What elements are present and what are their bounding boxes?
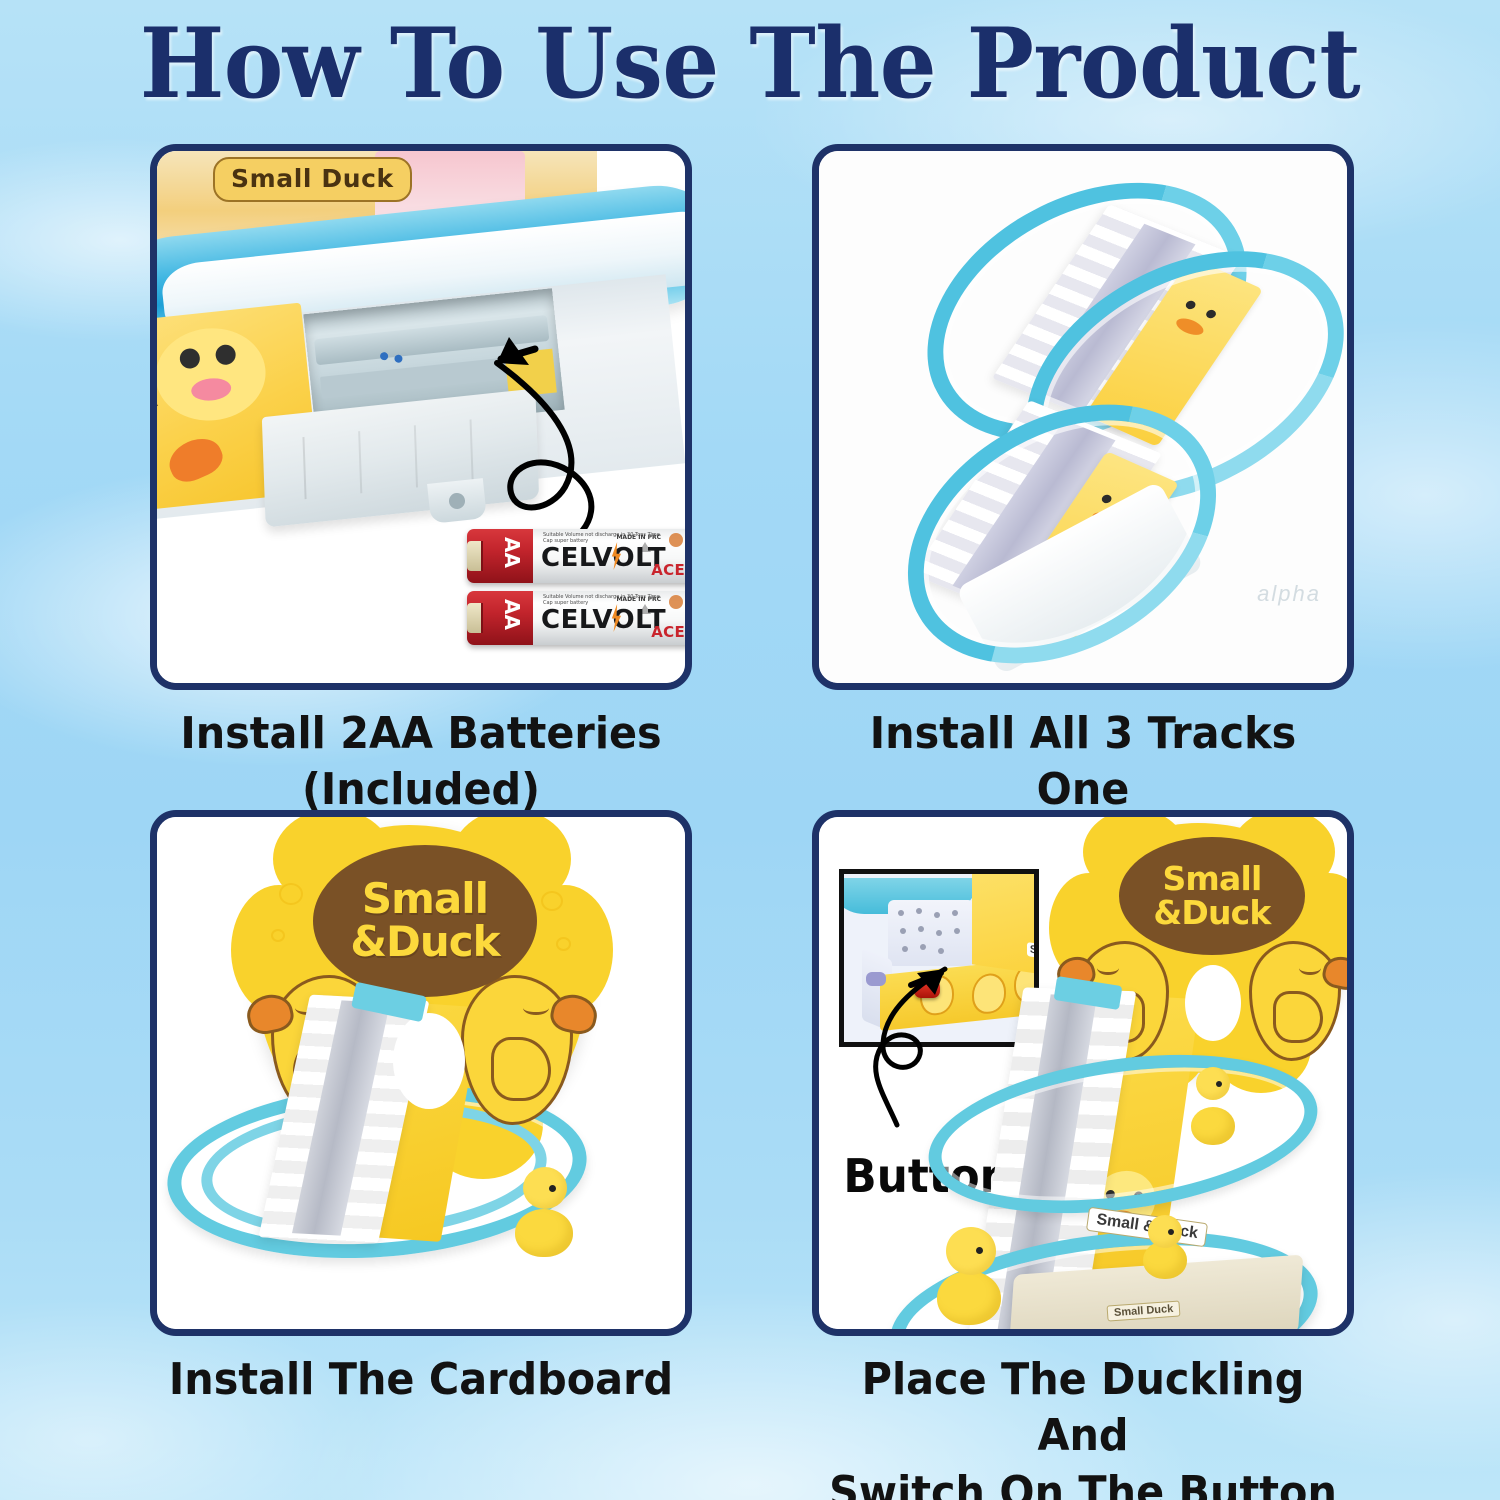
step-4-caption: Place The Duckling And Switch On The But…: [828, 1352, 1337, 1500]
battery-dot-icon: [669, 533, 683, 547]
cardboard-slot-hole: [393, 1013, 465, 1109]
brand-line-1: Small: [362, 878, 488, 921]
duckling-figure: [1185, 1067, 1247, 1145]
duckling-figure: [931, 1227, 1009, 1325]
brand-line-2: &Duck: [350, 921, 499, 964]
battery-brand: CELVOLT: [541, 543, 666, 573]
battery-brand: CELVOLT: [541, 605, 666, 635]
battery-aa-2: AA Suitable Volume not discharge in 30 T…: [467, 591, 692, 645]
battery-size-label: AA: [500, 537, 524, 567]
step-4-photo: Sm Button Small &Duck: [812, 810, 1354, 1336]
battery-origin: MADE IN PRC: [616, 596, 661, 603]
brand-line-1: Small: [1162, 862, 1261, 896]
cardboard-slot-hole: [1185, 965, 1241, 1041]
duckling-figure: [509, 1167, 579, 1257]
battery-origin: MADE IN PRC: [616, 534, 661, 541]
battery-aa-1: AA Suitable Volume not discharge in 30 T…: [467, 529, 692, 583]
brand-line-2: &Duck: [1153, 896, 1270, 930]
step-card-install-cardboard: Small &Duck: [150, 810, 692, 1408]
step-card-place-duckling: Sm Button Small &Duck: [812, 810, 1354, 1500]
battery-size-label: AA: [500, 599, 524, 629]
step-card-install-tracks: alpha Install All 3 Tracks One By One: [812, 144, 1354, 875]
step-3-caption: Install The Cardboard: [166, 1352, 675, 1408]
brand-oval: Small &Duck: [1119, 837, 1305, 955]
duckling-figure: [1137, 1215, 1189, 1279]
step-2-photo: alpha: [812, 144, 1354, 690]
step-1-caption: Install 2AA Batteries (Included): [166, 706, 675, 819]
step-1-photo: Small Duck ck AA Suitable Volume not d: [150, 144, 692, 690]
step-card-install-batteries: Small Duck ck AA Suitable Volume not d: [150, 144, 692, 819]
brand-oval: Small &Duck: [313, 845, 537, 997]
page-title: How To Use The Product: [53, 14, 1448, 115]
battery-subbrand: ACE: [651, 561, 685, 579]
watermark: alpha: [1257, 581, 1321, 607]
red-mark: [150, 159, 153, 175]
battery-dot-icon: [669, 595, 683, 609]
battery-subbrand: ACE: [651, 623, 685, 641]
step-3-photo: Small &Duck: [150, 810, 692, 1336]
